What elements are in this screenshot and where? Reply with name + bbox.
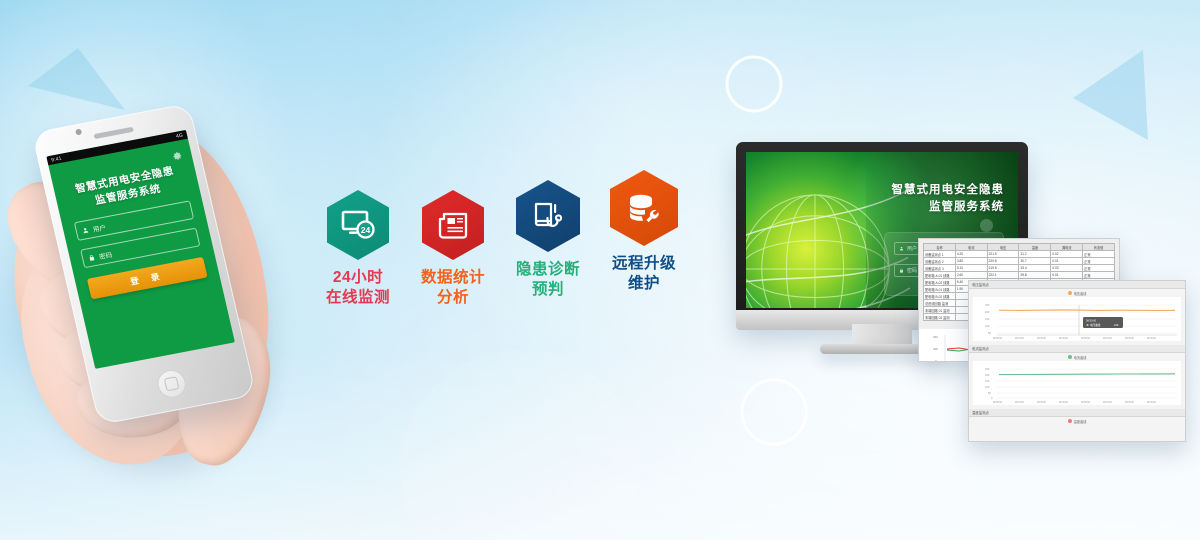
table-cell: 正常 (1083, 265, 1115, 272)
table-header: 名称 (924, 244, 956, 251)
table-header: 漏电流 (1051, 244, 1083, 251)
monitor-title-line1: 智慧式用电安全隐患 (892, 182, 1005, 199)
table-cell: 总进线回路 监测 (924, 300, 956, 307)
legend-label-temperature: 温度曲线 (1074, 419, 1087, 424)
feature-remote-upgrade[interactable]: 远程升级 维护 (596, 170, 692, 294)
book-stethoscope-icon (532, 201, 564, 231)
table-cell: 正常 (1083, 258, 1115, 265)
phone-status-bar: 9:41 4G (46, 130, 188, 165)
chart-tooltip: 08:30:00 电压曲线 220 (1083, 317, 1123, 328)
table-header: 电流 (955, 244, 987, 251)
newspaper-icon (437, 211, 469, 239)
svg-text:150: 150 (985, 317, 990, 321)
feature-label-line1: 24小时 (310, 268, 406, 288)
user-icon (899, 246, 904, 251)
feature-list: 24 24小时 在线监测 数据统计 (300, 168, 700, 348)
table-cell: 0.02 (1051, 251, 1083, 258)
panel-header-temperature: 温度监测点 (969, 409, 1185, 417)
svg-text:09:00:00: 09:00:00 (1081, 402, 1091, 404)
svg-text:09:00:00: 09:00:00 (1081, 338, 1091, 340)
svg-text:100: 100 (985, 385, 990, 389)
hexagon-badge (610, 170, 678, 246)
monitor-username-placeholder: 用户 (907, 245, 917, 252)
feature-label-line2: 维护 (596, 274, 692, 294)
svg-text:24: 24 (361, 225, 371, 235)
svg-text:08:00:00: 08:00:00 (993, 402, 1003, 404)
feature-label: 远程升级 维护 (596, 254, 692, 294)
table-row[interactable]: 配电箱 A-01 线路2.60222.129.80.01正常 (924, 272, 1115, 279)
svg-text:08:15:00: 08:15:00 (1015, 402, 1025, 404)
home-button[interactable] (155, 368, 189, 401)
table-cell: 33.4 (1019, 265, 1051, 272)
hexagon-badge (516, 180, 580, 252)
svg-text:220: 220 (1114, 323, 1119, 327)
gear-icon[interactable] (170, 149, 183, 162)
legend-label-voltage: 电压曲线 (1074, 291, 1087, 296)
table-cell: 配电箱 A-02 线路 (924, 279, 956, 286)
table-cell: 31.2 (1019, 251, 1051, 258)
table-cell: 219.6 (987, 265, 1019, 272)
feature-hazard-diagnosis[interactable]: 隐患诊断 预判 (500, 180, 596, 300)
status-network: 4G (175, 132, 183, 139)
table-cell: 221.5 (987, 251, 1019, 258)
table-cell: 4.20 (955, 251, 987, 258)
svg-text:09:30:00: 09:30:00 (1125, 402, 1135, 404)
hero-banner: 9:41 4G 智慧式用电安全隐患 监管服务系统 用户 (0, 0, 1200, 540)
feature-label-line2: 预判 (500, 280, 596, 300)
feature-label-line2: 在线监测 (310, 288, 406, 308)
table-header: 温度 (1019, 244, 1051, 251)
hexagon-badge: 24 (327, 190, 389, 260)
ring-top (727, 57, 781, 111)
table-cell: 设备监测点 3 (924, 265, 956, 272)
table-header: 电压 (987, 244, 1019, 251)
monitor-password-placeholder: 密码 (907, 267, 917, 274)
table-cell: 正常 (1083, 272, 1115, 279)
table-cell: 2.60 (955, 272, 987, 279)
feature-data-statistics[interactable]: 数据统计 分析 (405, 190, 501, 308)
table-cell: 正常 (1083, 251, 1115, 258)
chart-voltage: 250200150 10050 08:30:00 电压曲线 220 08:00:… (973, 297, 1181, 341)
table-cell: 30.7 (1019, 258, 1051, 265)
svg-text:0: 0 (991, 396, 993, 400)
svg-text:150: 150 (985, 379, 990, 383)
svg-text:100: 100 (985, 324, 990, 328)
glow-circle-bottom (400, 350, 640, 540)
status-time: 9:41 (51, 155, 63, 163)
monitor-24-icon: 24 (341, 210, 375, 240)
svg-text:200: 200 (985, 373, 990, 377)
lock-icon (899, 268, 904, 273)
svg-text:200: 200 (985, 310, 990, 314)
table-cell: 0.03 (1051, 265, 1083, 272)
phone-in-hand: 9:41 4G 智慧式用电安全隐患 监管服务系统 用户 (16, 110, 306, 450)
triangle-top-left (28, 48, 125, 110)
panel-header-voltage: 电压监测点 (969, 281, 1185, 289)
svg-text:08:15:00: 08:15:00 (1015, 338, 1025, 340)
svg-text:09:15:00: 09:15:00 (1103, 338, 1113, 340)
svg-text:08:45:00: 08:45:00 (1059, 338, 1069, 340)
avatar-icon (980, 219, 993, 232)
triangle-top-right (1073, 50, 1148, 140)
legend-temperature: 温度曲线 (969, 417, 1185, 425)
svg-text:250: 250 (985, 303, 990, 307)
chart-current: 250200150 100500 08:00:0008:15:0008:30:0… (973, 361, 1181, 405)
svg-text:09:30:00: 09:30:00 (1125, 338, 1135, 340)
monitor-title: 智慧式用电安全隐患 监管服务系统 (892, 182, 1005, 216)
svg-text:08:30:00: 08:30:00 (1086, 319, 1097, 323)
table-cell: 配电箱 B-02 线路 (924, 293, 956, 300)
feature-monitor-24h[interactable]: 24 24小时 在线监测 (310, 190, 406, 308)
earpiece-speaker (94, 127, 134, 139)
lock-icon (87, 253, 96, 262)
legend-current: 电流曲线 (969, 353, 1185, 361)
feature-label-line1: 隐患诊断 (500, 260, 596, 280)
svg-text:250: 250 (985, 367, 990, 371)
monitor-title-line2: 监管服务系统 (892, 199, 1005, 216)
feature-label: 24小时 在线监测 (310, 268, 406, 308)
dashboard-window-front[interactable]: 电压监测点 电压曲线 250200150 10050 08:30:00 电压曲线 (968, 280, 1186, 442)
svg-text:09:45:00: 09:45:00 (1147, 338, 1157, 340)
svg-text:0: 0 (935, 359, 937, 362)
panel-header-current: 电流监测点 (969, 345, 1185, 353)
table-cell: 220.8 (987, 258, 1019, 265)
feature-label-line1: 数据统计 (405, 268, 501, 288)
table-cell: 配电箱 A-01 线路 (924, 272, 956, 279)
table-cell: 222.1 (987, 272, 1019, 279)
ring-bottom (742, 380, 806, 444)
svg-text:08:00:00: 08:00:00 (993, 338, 1003, 340)
svg-text:08:30:00: 08:30:00 (1037, 402, 1047, 404)
table-cell: 0.01 (1051, 272, 1083, 279)
table-row[interactable]: 设备监测点 23.80220.830.70.01正常 (924, 258, 1115, 265)
database-wrench-icon (627, 193, 661, 223)
user-icon (81, 225, 90, 234)
feature-label-line1: 远程升级 (596, 254, 692, 274)
svg-text:250: 250 (933, 335, 938, 339)
phone-password-placeholder: 密码 (98, 248, 113, 260)
table-cell: 5.10 (955, 265, 987, 272)
svg-text:200: 200 (933, 347, 938, 351)
table-cell: 设备监测点 2 (924, 258, 956, 265)
table-header: 状态值 (1083, 244, 1115, 251)
front-camera-icon (75, 129, 82, 136)
svg-text:电压曲线: 电压曲线 (1090, 323, 1101, 327)
table-row[interactable]: 设备监测点 14.20221.531.20.02正常 (924, 251, 1115, 258)
svg-text:09:45:00: 09:45:00 (1147, 402, 1157, 404)
table-cell: 3.80 (955, 258, 987, 265)
table-cell: 29.8 (1019, 272, 1051, 279)
feature-label-line2: 分析 (405, 288, 501, 308)
table-cell: 末端回路 02 监测 (924, 314, 956, 321)
hexagon-badge (422, 190, 484, 260)
table-cell: 设备监测点 1 (924, 251, 956, 258)
feature-label: 隐患诊断 预判 (500, 260, 596, 300)
legend-voltage: 电压曲线 (969, 289, 1185, 297)
table-cell: 0.01 (1051, 258, 1083, 265)
legend-label-current: 电流曲线 (1074, 355, 1087, 360)
svg-text:50: 50 (988, 391, 991, 395)
svg-text:50: 50 (988, 331, 991, 335)
phone-username-placeholder: 用户 (92, 221, 107, 233)
svg-text:09:15:00: 09:15:00 (1103, 402, 1113, 404)
feature-label: 数据统计 分析 (405, 268, 501, 308)
svg-text:08:45:00: 08:45:00 (1059, 402, 1069, 404)
home-button-square-icon (164, 376, 180, 391)
table-cell: 末端回路 01 监测 (924, 307, 956, 314)
table-row[interactable]: 设备监测点 35.10219.633.40.03正常 (924, 265, 1115, 272)
table-cell: 配电箱 B-01 线路 (924, 286, 956, 293)
svg-text:08:30:00: 08:30:00 (1037, 338, 1047, 340)
